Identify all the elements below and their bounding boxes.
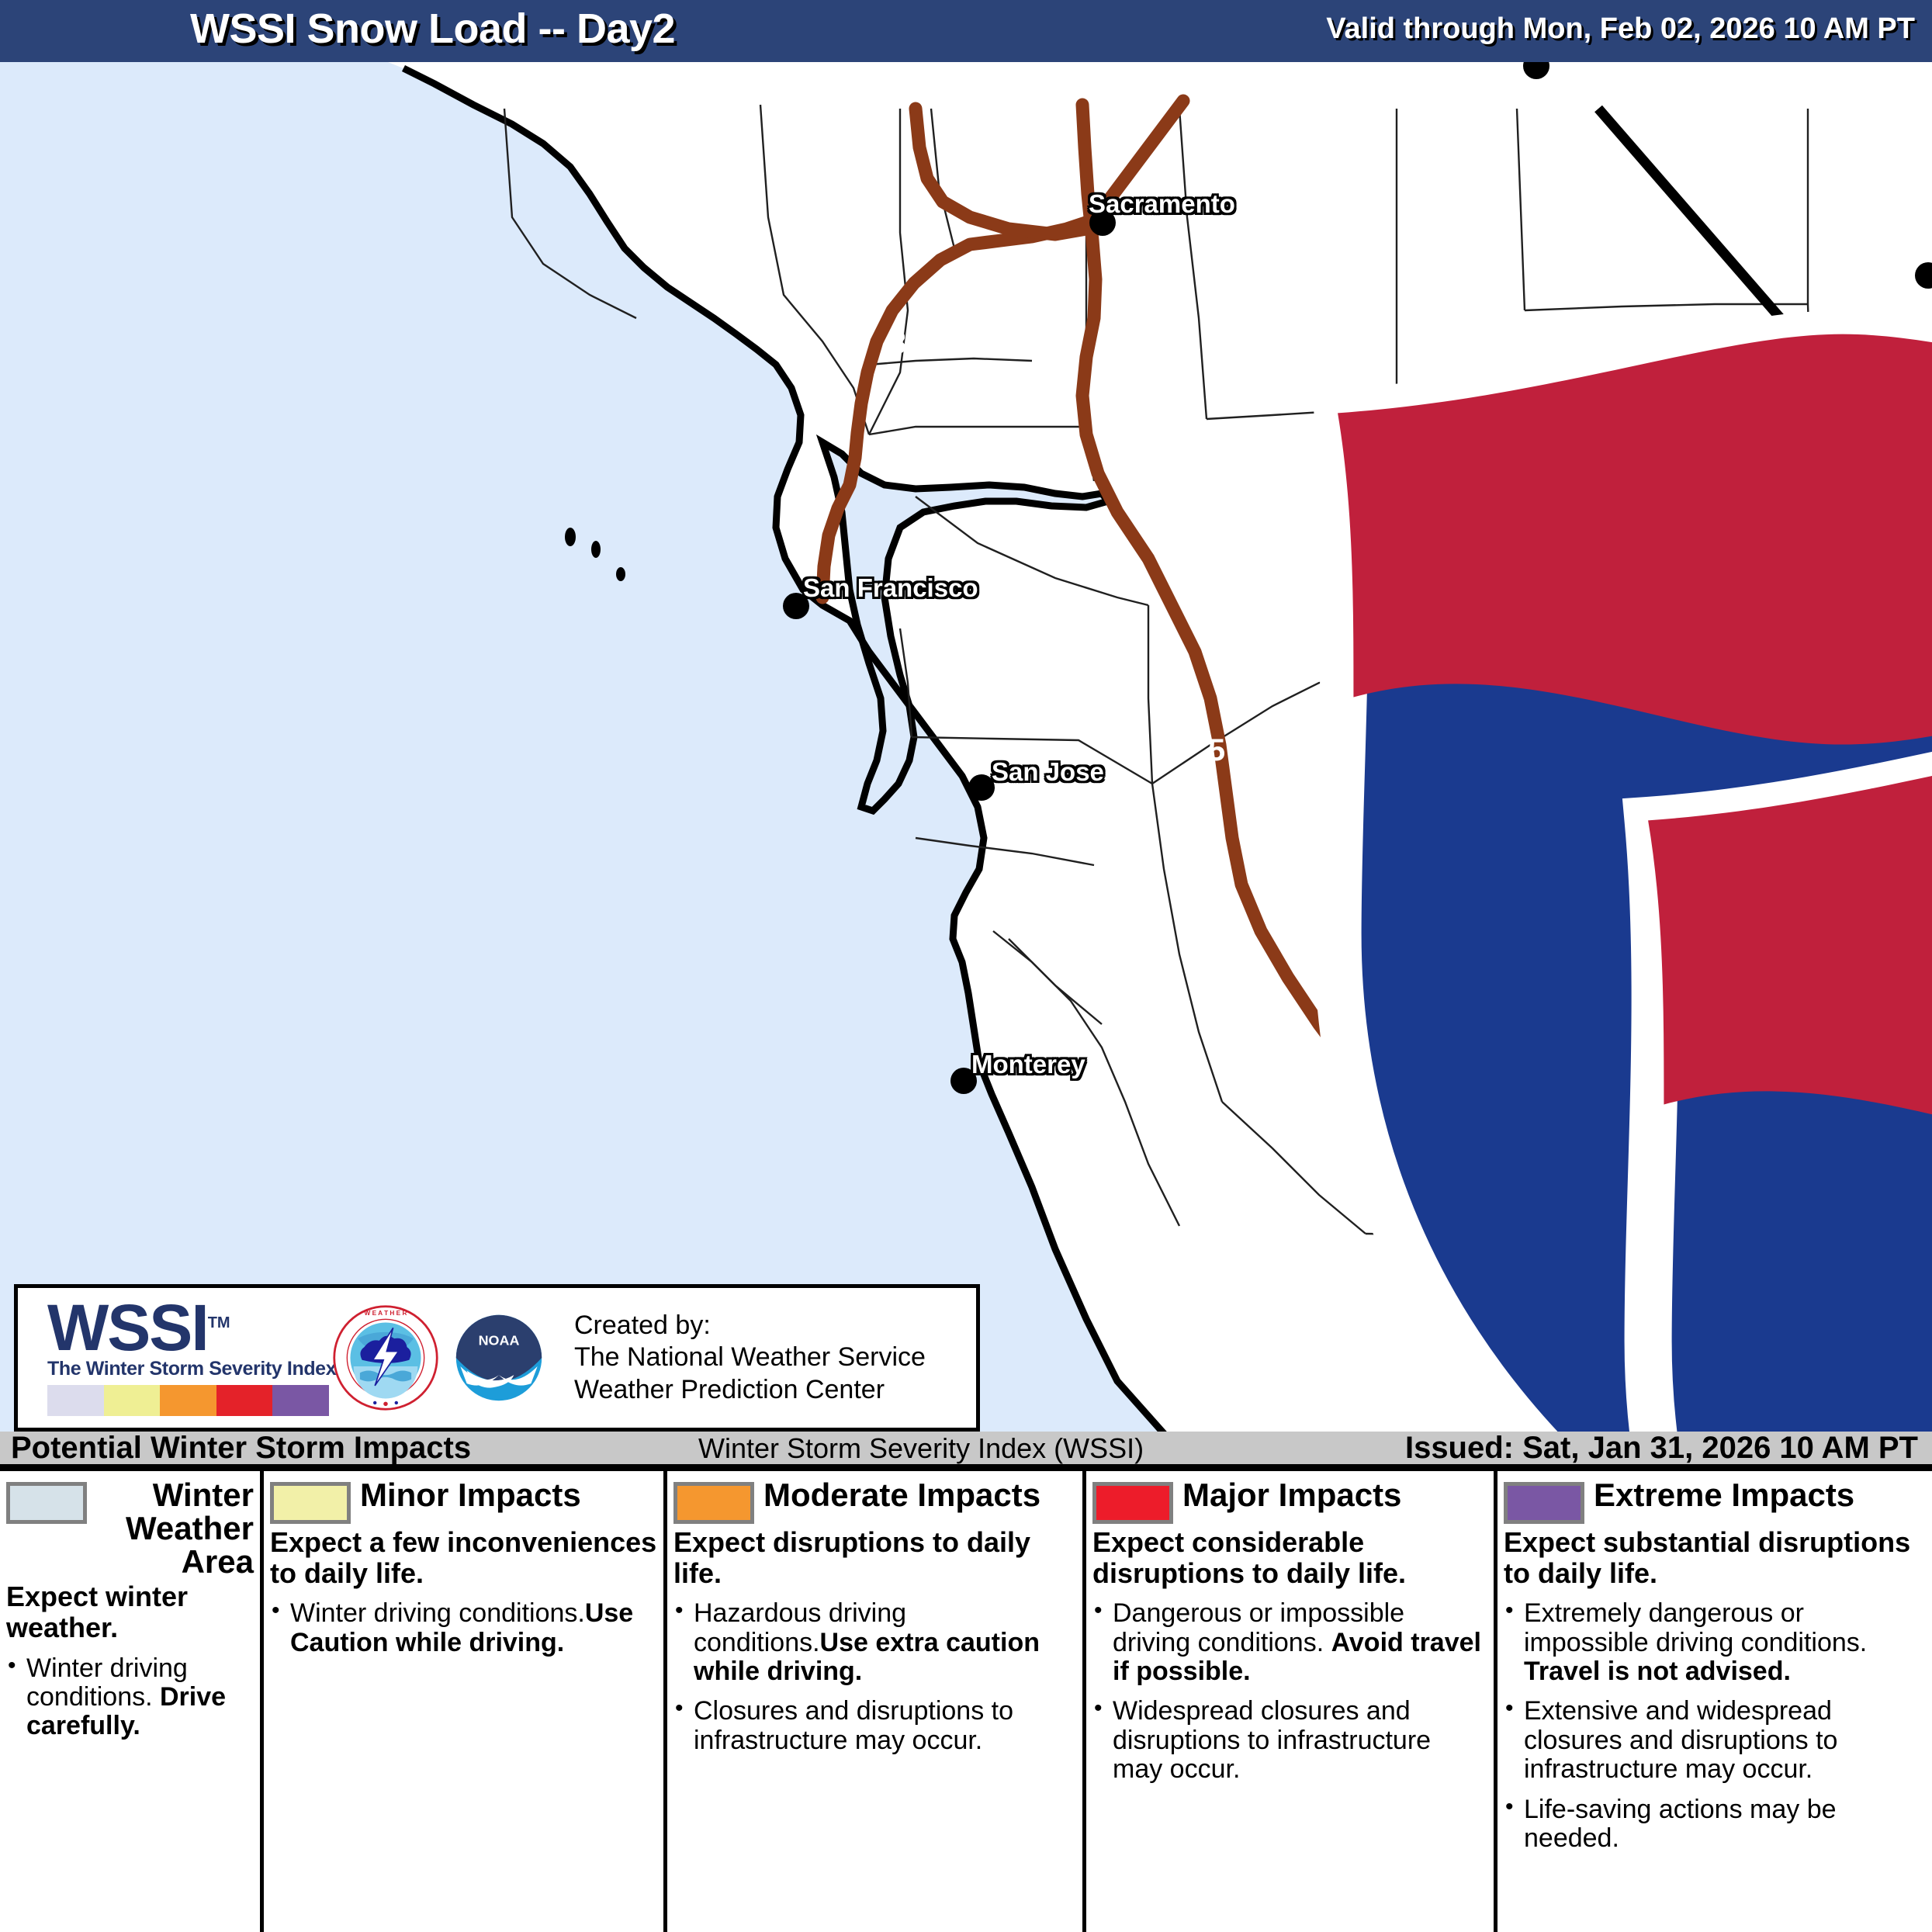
noaa-seal-icon: NOAA [445, 1300, 552, 1416]
legend-header: Moderate Impacts [673, 1479, 1076, 1524]
legend-lead-extreme-impacts: Expect substantial disruptions to daily … [1504, 1527, 1926, 1588]
island-marker [565, 528, 576, 546]
legend-bullet: Dangerous or impossible driving conditio… [1092, 1599, 1487, 1686]
agency-seals: W E A T H E R NOAA [332, 1300, 552, 1416]
legend-title-extreme-impacts: Extreme Impacts [1594, 1479, 1926, 1512]
legend-swatch-major-impacts [1092, 1482, 1173, 1524]
legend-bullets-minor-impacts: Winter driving conditions.Use Caution wh… [270, 1599, 657, 1657]
bullet-normal-text: Closures and disruptions to infrastructu… [694, 1696, 1013, 1754]
island-marker [591, 541, 601, 558]
legend-column-winter-weather-area[interactable]: Winter Weather Area Expect winter weathe… [0, 1471, 264, 1932]
legend-bullet: Hazardous driving conditions.Use extra c… [673, 1599, 1076, 1686]
interstate-shield-5: 5 [1187, 710, 1246, 778]
bullet-normal-text: Extensive and widespread closures and di… [1524, 1696, 1837, 1784]
legend-header: Minor Impacts [270, 1479, 657, 1524]
bullet-normal-text: Winter driving conditions. [290, 1598, 585, 1628]
legend-title-minor-impacts: Minor Impacts [360, 1479, 657, 1512]
wssi-bar-swatch-moderate [160, 1385, 216, 1416]
legend-bullet: Life-saving actions may be needed. [1504, 1795, 1926, 1854]
legend-column-moderate-impacts[interactable]: Moderate Impacts Expect disruptions to d… [667, 1471, 1086, 1932]
national-weather-service-seal-icon: W E A T H E R [332, 1300, 439, 1416]
wssi-snow-load-map-page: WSSI Snow Load -- Day2 Valid through Mon… [0, 0, 1932, 1932]
created-by-label: Created by: [574, 1310, 926, 1342]
wssi-severity-color-bar [47, 1385, 329, 1416]
status-bar-issued: Issued: Sat, Jan 31, 2026 10 AM PT [1405, 1431, 1918, 1466]
valid-through-text: Valid through Mon, Feb 02, 2026 10 AM PT [1326, 12, 1915, 46]
legend-column-minor-impacts[interactable]: Minor Impacts Expect a few inconvenience… [264, 1471, 667, 1932]
legend-bullets-moderate-impacts: Hazardous driving conditions.Use extra c… [673, 1599, 1076, 1755]
legend-bullet: Widespread closures and disruptions to i… [1092, 1697, 1487, 1784]
legend-lead-winter-weather-area: Expect winter weather. [6, 1581, 254, 1643]
legend-column-major-impacts[interactable]: Major Impacts Expect considerable disrup… [1086, 1471, 1497, 1932]
city-dot-san-francisco [783, 593, 809, 619]
legend-header: Winter Weather Area [6, 1479, 254, 1578]
bullet-normal-text: Life-saving actions may be needed. [1524, 1795, 1837, 1853]
bullet-bold-text: Travel is not advised. [1524, 1657, 1791, 1686]
legend-swatch-winter-weather-area [6, 1482, 87, 1524]
bullet-normal-text: Widespread closures and disruptions to i… [1113, 1696, 1431, 1784]
legend-bullet: Winter driving conditions. Drive careful… [6, 1654, 254, 1741]
legend-header: Extreme Impacts [1504, 1479, 1926, 1524]
legend-title-major-impacts: Major Impacts [1182, 1479, 1487, 1512]
legend-lead-moderate-impacts: Expect disruptions to daily life. [673, 1527, 1076, 1588]
legend-bullet: Closures and disruptions to infrastructu… [673, 1697, 1076, 1755]
created-by-block: Created by: The National Weather Service… [574, 1310, 926, 1406]
legend-swatch-extreme-impacts [1504, 1482, 1584, 1524]
created-by-agency: The National Weather Service [574, 1342, 926, 1373]
wssi-bar-swatch-extreme [272, 1385, 329, 1416]
interstate-shield-80-number: 80 [877, 326, 936, 361]
status-bar-title: Potential Winter Storm Impacts [11, 1431, 471, 1466]
legend-column-extreme-impacts[interactable]: Extreme Impacts Expect substantial disru… [1497, 1471, 1932, 1932]
legend-bullets-major-impacts: Dangerous or impossible driving conditio… [1092, 1599, 1487, 1784]
interstate-shield-5-number: 5 [1187, 733, 1246, 768]
wssi-bar-swatch-minor [104, 1385, 161, 1416]
legend-header: Major Impacts [1092, 1479, 1487, 1524]
wssi-bar-swatch-winter-weather [47, 1385, 104, 1416]
legend-title-moderate-impacts: Moderate Impacts [763, 1479, 1076, 1512]
legend-bullet: Winter driving conditions.Use Caution wh… [270, 1599, 657, 1657]
wssi-credit-panel: WSSITM The Winter Storm Severity Index [14, 1284, 980, 1432]
legend-swatch-minor-impacts [270, 1482, 351, 1524]
wssi-wordmark: WSSITM [47, 1300, 230, 1357]
legend-bullets-winter-weather-area: Winter driving conditions. Drive careful… [6, 1654, 254, 1741]
map-canvas[interactable]: Sacramento San Francisco San Jose Fresno… [0, 62, 1932, 1451]
header-bar: WSSI Snow Load -- Day2 Valid through Mon… [0, 0, 1932, 62]
impacts-legend: Winter Weather Area Expect winter weathe… [0, 1469, 1932, 1932]
interstate-shield-80: 80 [877, 303, 936, 371]
wssi-wordmark-text: WSSI [47, 1291, 208, 1364]
legend-bullet: Extremely dangerous or impossible drivin… [1504, 1599, 1926, 1686]
legend-swatch-moderate-impacts [673, 1482, 754, 1524]
city-dot-sacramento [1089, 209, 1116, 236]
status-bar-subtitle: Winter Storm Severity Index (WSSI) [698, 1432, 1144, 1465]
legend-bullets-extreme-impacts: Extremely dangerous or impossible drivin… [1504, 1599, 1926, 1853]
bullet-normal-text: Extremely dangerous or impossible drivin… [1524, 1598, 1867, 1657]
created-by-center: Weather Prediction Center [574, 1374, 926, 1406]
legend-title-winter-weather-area: Winter Weather Area [96, 1479, 254, 1578]
impacts-status-bar: Potential Winter Storm Impacts Winter St… [0, 1432, 1932, 1469]
page-title: WSSI Snow Load -- Day2 [190, 5, 675, 53]
svg-text:W E A T H E R: W E A T H E R [365, 1310, 407, 1317]
legend-bullet: Extensive and widespread closures and di… [1504, 1697, 1926, 1784]
shield-5-icon [1187, 710, 1932, 1451]
legend-lead-major-impacts: Expect considerable disruptions to daily… [1092, 1527, 1487, 1588]
island-marker [616, 567, 625, 581]
svg-text:NOAA: NOAA [479, 1332, 520, 1348]
legend-lead-minor-impacts: Expect a few inconveniences to daily lif… [270, 1527, 657, 1588]
wssi-logo: WSSITM The Winter Storm Severity Index [18, 1300, 332, 1417]
wssi-trademark: TM [208, 1314, 230, 1331]
wssi-bar-swatch-major [216, 1385, 273, 1416]
